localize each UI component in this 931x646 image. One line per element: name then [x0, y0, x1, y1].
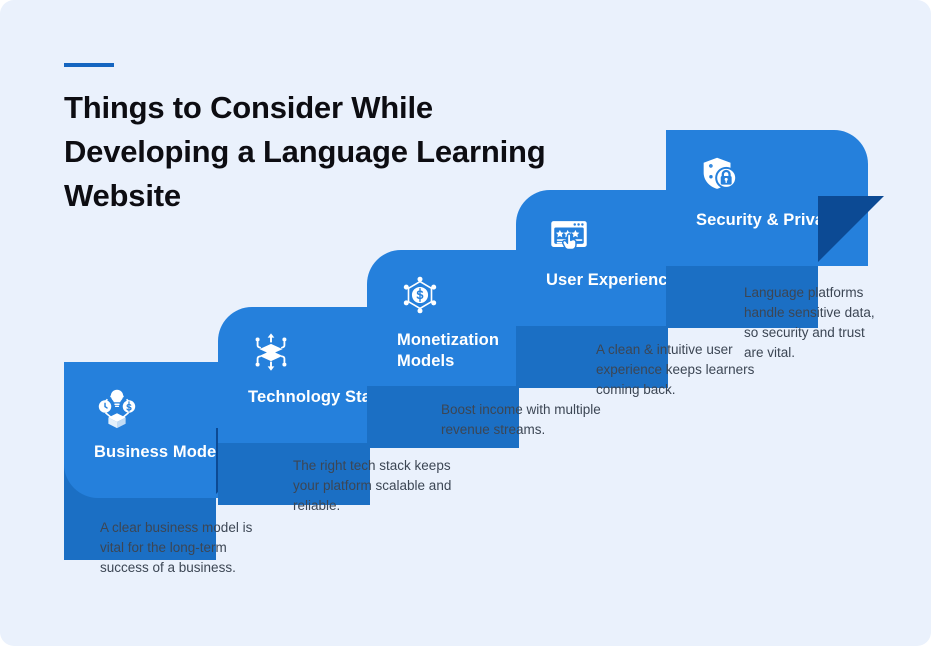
technology-stack-icon — [248, 329, 294, 375]
step-5-fold — [818, 196, 884, 262]
step-3-caption: Boost income with multiple revenue strea… — [441, 400, 606, 440]
title-accent-bar — [64, 63, 114, 67]
infographic-canvas: Things to Consider While Developing a La… — [0, 0, 931, 646]
step-1-caption: A clear business model is vital for the … — [100, 518, 265, 578]
business-model-icon: S — [94, 384, 140, 430]
page-title: Things to Consider While Developing a La… — [64, 86, 564, 218]
security-privacy-icon — [696, 152, 742, 198]
user-experience-icon — [546, 212, 592, 258]
monetization-models-icon: S — [397, 272, 443, 318]
step-4-caption: A clean & intuitive user experience keep… — [596, 340, 766, 400]
step-2-caption: The right tech stack keeps your platform… — [293, 456, 463, 516]
step-5-caption: Language platforms handle sensitive data… — [744, 283, 884, 363]
